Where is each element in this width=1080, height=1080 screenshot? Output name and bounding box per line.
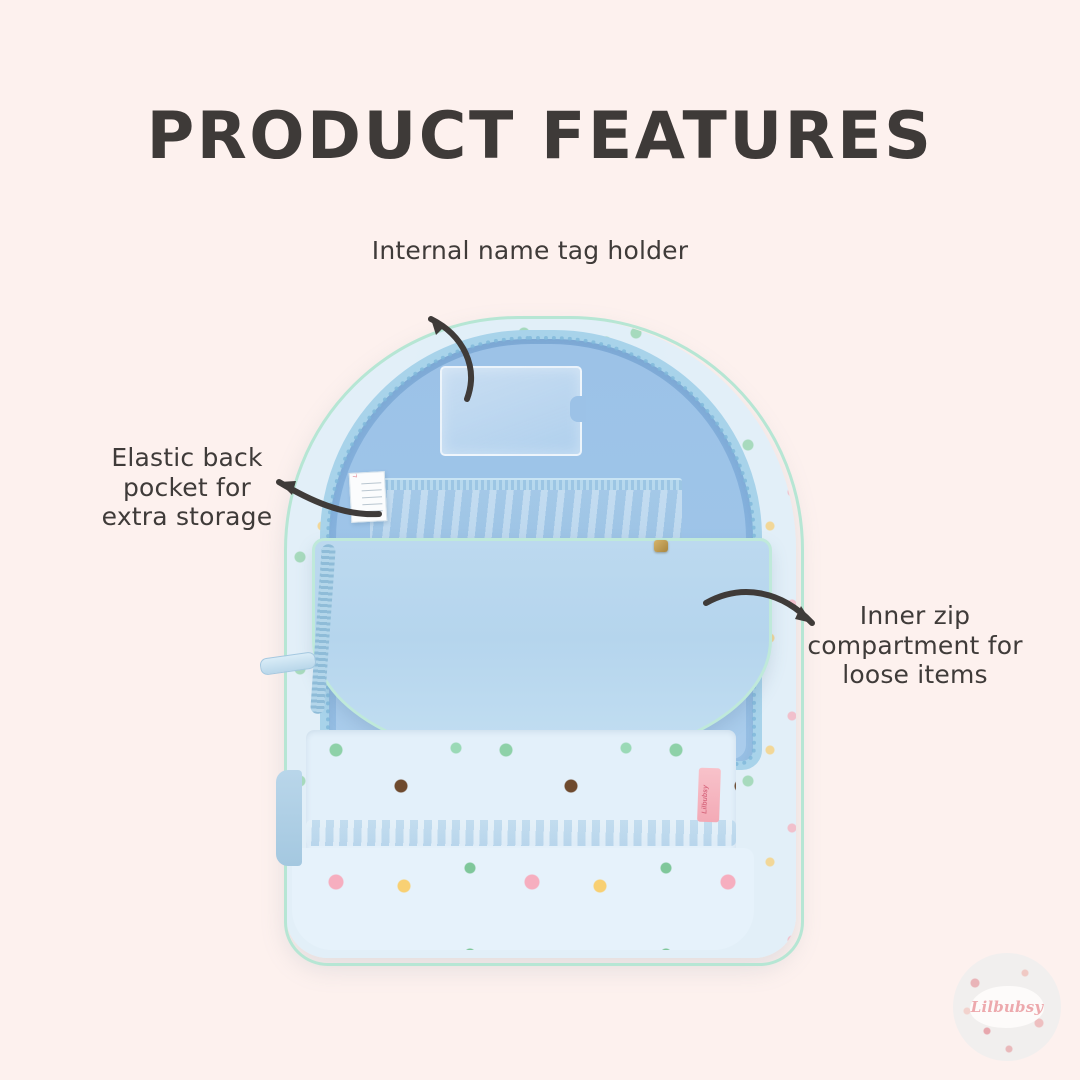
callout-internal-name-tag: Internal name tag holder bbox=[290, 236, 770, 266]
curved-arrow-up-icon bbox=[405, 295, 515, 405]
curved-arrow-right-icon bbox=[700, 565, 830, 655]
brand-badge-text: Lilbubsy bbox=[971, 998, 1044, 1016]
callout-inner-zip-line-3: loose items bbox=[790, 660, 1040, 690]
page-title: PRODUCT FEATURES bbox=[0, 104, 1080, 169]
brand-badge: Lilbubsy bbox=[953, 953, 1061, 1061]
side-brand-tag-text: Lilbubsy bbox=[701, 785, 709, 814]
inner-zip-slider bbox=[654, 540, 668, 552]
name-tag-holder-notch bbox=[570, 396, 586, 422]
front-pocket-elastic-gather bbox=[306, 820, 736, 846]
shoulder-strap bbox=[276, 770, 302, 866]
side-brand-tag: Lilbubsy bbox=[697, 768, 721, 823]
brand-badge-plate: Lilbubsy bbox=[970, 986, 1044, 1028]
callout-internal-name-tag-line-1: Internal name tag holder bbox=[290, 236, 770, 266]
backpack-base bbox=[292, 848, 754, 950]
infographic-canvas: PRODUCT FEATURES Lilbubsy bbox=[0, 0, 1080, 1080]
curved-arrow-left-icon bbox=[265, 450, 385, 530]
